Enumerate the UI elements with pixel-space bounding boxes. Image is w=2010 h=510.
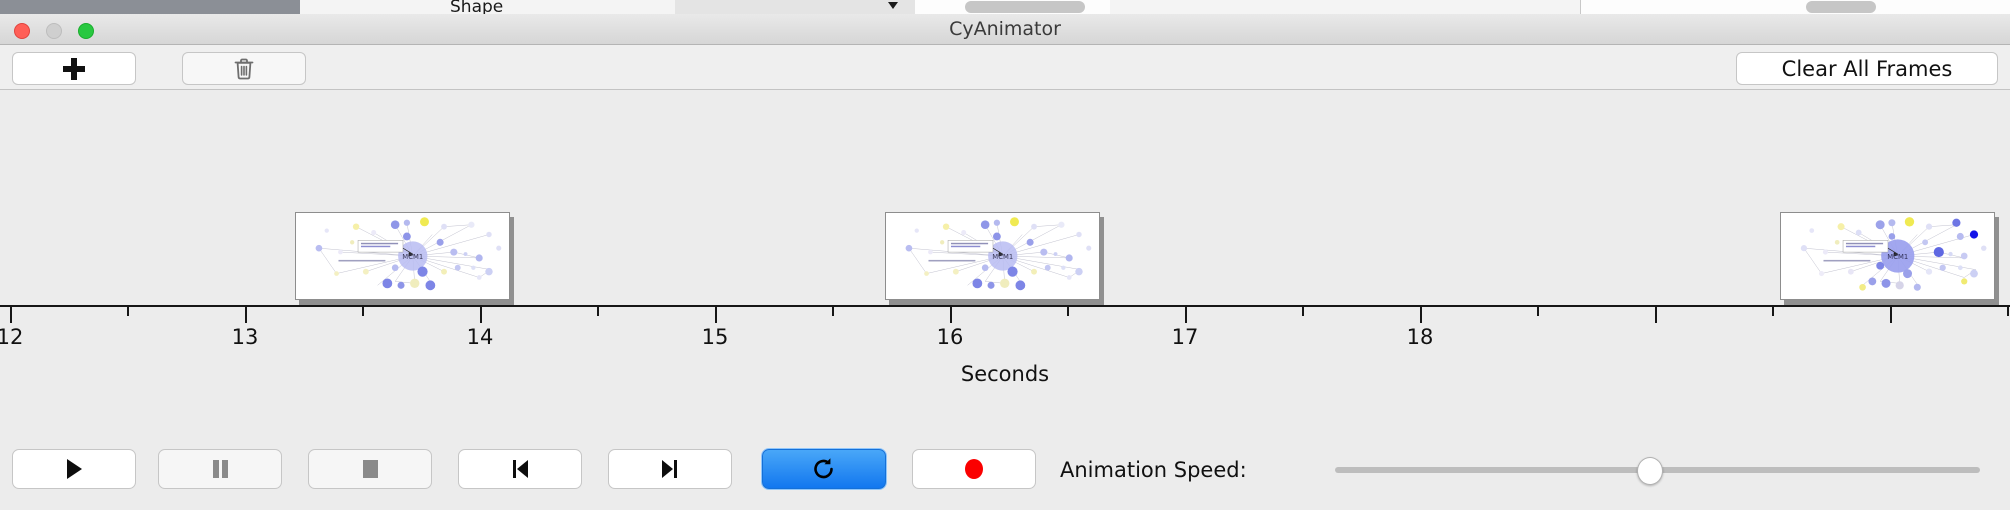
- background-window-strip: Shape: [0, 0, 2010, 14]
- axis-tick: [2007, 307, 2009, 316]
- loop-icon: [810, 455, 838, 483]
- frame-image: MCM1: [1780, 212, 1995, 300]
- axis-tick: [1302, 307, 1304, 316]
- frame-image: MCM1: [295, 212, 510, 300]
- timeline-panel[interactable]: MCM1: [0, 90, 2010, 412]
- axis-tick: [1890, 307, 1892, 323]
- pause-icon: [207, 456, 233, 482]
- network-thumbnail-pale: MCM1: [886, 213, 1099, 299]
- frame-thumbnail-2[interactable]: MCM1: [885, 212, 1100, 300]
- background-sort-triangle-icon: [888, 2, 898, 9]
- loop-button[interactable]: [762, 449, 886, 489]
- animation-speed-slider-thumb[interactable]: [1637, 457, 1663, 485]
- play-button[interactable]: [12, 449, 136, 489]
- skip-back-icon: [507, 456, 533, 482]
- record-button[interactable]: [912, 449, 1036, 489]
- frame-thumbnail-1[interactable]: MCM1: [295, 212, 510, 300]
- svg-text:MCM1: MCM1: [1887, 253, 1908, 261]
- delete-frame-button[interactable]: [182, 52, 306, 85]
- stop-icon: [357, 456, 383, 482]
- axis-title: Seconds: [0, 362, 2010, 386]
- axis-tick-label: 13: [232, 325, 259, 349]
- toolbar: Clear All Frames: [0, 45, 2010, 90]
- svg-text:MCM1: MCM1: [402, 253, 423, 261]
- skip-to-end-button[interactable]: [608, 449, 732, 489]
- axis-tick: [1420, 307, 1422, 323]
- network-thumbnail-pale: MCM1: [296, 213, 509, 299]
- svg-text:MCM1: MCM1: [992, 253, 1013, 261]
- background-cell: [520, 0, 566, 14]
- record-icon: [961, 456, 987, 482]
- axis-tick: [1067, 307, 1069, 316]
- background-scrollbar[interactable]: [965, 1, 1085, 13]
- plus-icon: [63, 58, 85, 80]
- axis-line: [0, 305, 2010, 307]
- axis-tick: [597, 307, 599, 316]
- cyanimator-window: Shape CyAnimator Clear All Frames: [0, 0, 2010, 510]
- stop-button[interactable]: [308, 449, 432, 489]
- axis-tick: [1772, 307, 1774, 316]
- axis-tick: [715, 307, 717, 323]
- frame-thumbnail-3[interactable]: MCM1: [1780, 212, 1995, 300]
- background-cell: [565, 0, 676, 14]
- title-bar: CyAnimator: [0, 14, 2010, 45]
- axis-tick: [1537, 307, 1539, 316]
- frames-track[interactable]: MCM1: [0, 90, 2010, 305]
- trash-icon: [233, 57, 255, 81]
- background-window-label: Shape: [450, 0, 503, 14]
- background-cell: [1110, 0, 1321, 14]
- axis-tick-label: 14: [467, 325, 494, 349]
- axis-tick: [950, 307, 952, 323]
- background-cell: [300, 0, 361, 14]
- add-frame-button[interactable]: [12, 52, 136, 85]
- animation-speed-label: Animation Speed:: [1060, 458, 1247, 482]
- axis-tick-label: 12: [0, 325, 23, 349]
- axis-tick: [480, 307, 482, 323]
- axis-tick: [832, 307, 834, 316]
- axis-tick: [127, 307, 129, 316]
- time-axis: 12 13 14 15 16 17 18: [0, 305, 2010, 355]
- axis-tick: [1655, 307, 1657, 323]
- axis-tick-label: 15: [702, 325, 729, 349]
- axis-tick: [245, 307, 247, 323]
- pause-button[interactable]: [158, 449, 282, 489]
- window-title: CyAnimator: [0, 14, 2010, 45]
- axis-tick-label: 18: [1407, 325, 1434, 349]
- axis-tick-label: 16: [937, 325, 964, 349]
- skip-to-start-button[interactable]: [458, 449, 582, 489]
- axis-tick: [10, 307, 12, 323]
- axis-tick: [362, 307, 364, 316]
- axis-tick-label: 17: [1172, 325, 1199, 349]
- frame-image: MCM1: [885, 212, 1100, 300]
- network-thumbnail-bold: MCM1: [1781, 213, 1994, 299]
- background-cell: [675, 0, 915, 14]
- transport-bar: Animation Speed:: [0, 434, 2010, 510]
- axis-tick: [1185, 307, 1187, 323]
- play-icon: [61, 456, 87, 482]
- clear-all-frames-button[interactable]: Clear All Frames: [1736, 52, 1998, 85]
- background-scrollbar-2[interactable]: [1806, 1, 1876, 13]
- background-cell: [1320, 0, 1581, 14]
- background-window-dark-panel: [0, 0, 300, 14]
- skip-forward-icon: [657, 456, 683, 482]
